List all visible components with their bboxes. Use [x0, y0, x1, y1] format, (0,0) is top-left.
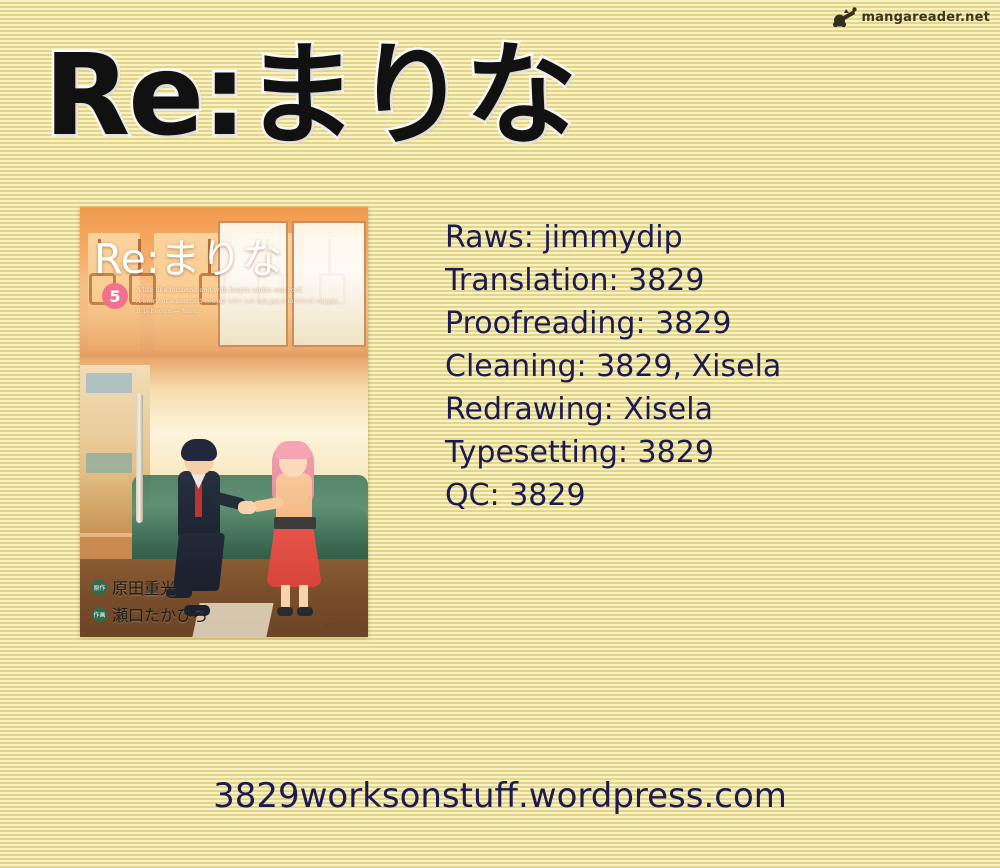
- scanlation-credits-list: Raws: jimmydip Translation: 3829 Proofre…: [445, 216, 965, 517]
- volume-cover-image: Re:まりな 5 A life like husband and wife be…: [80, 207, 368, 637]
- credit-line-qc: QC: 3829: [445, 474, 965, 517]
- cover-held-hands: [238, 501, 256, 514]
- credit-line-redrawing: Redrawing: Xisela: [445, 388, 965, 431]
- cover-character-woman-leg: [299, 585, 308, 609]
- author-role-tag: 原作: [92, 580, 107, 595]
- author-name: 原田重光: [112, 575, 176, 599]
- cover-ad-poster: [86, 453, 132, 473]
- cover-tagline-line-3: It is begun — here.: [136, 306, 350, 317]
- cover-character-woman-skirt: [266, 525, 322, 587]
- credit-line-proofreading: Proofreading: 3829: [445, 302, 965, 345]
- cover-grab-pole: [136, 393, 143, 523]
- credit-line-raws: Raws: jimmydip: [445, 216, 965, 259]
- credit-line-typesetting: Typesetting: 3829: [445, 431, 965, 474]
- cover-tagline-line-2: A story of a married couple who are not …: [136, 296, 350, 307]
- group-website-url: 3829worksonstuff.wordpress.com: [0, 779, 1000, 813]
- series-title-logo: Re:まりな: [44, 40, 575, 152]
- cover-author-row: 作画 瀬口たかひろ: [92, 602, 208, 626]
- site-watermark: mangareader.net: [832, 6, 990, 28]
- cover-ad-poster: [86, 373, 132, 393]
- cover-character-woman-hair-front: [275, 441, 311, 459]
- cover-character-woman-shoe: [277, 607, 293, 616]
- cover-character-man-hair: [181, 439, 217, 461]
- cover-tagline: A life like husband and wife begun under…: [136, 285, 350, 317]
- credit-line-translation: Translation: 3829: [445, 259, 965, 302]
- cover-publisher-mark: JETS COMICS: [324, 624, 360, 629]
- cover-volume-badge: 5: [102, 283, 128, 309]
- cover-author-credits: 原作 原田重光 作画 瀬口たかひろ: [92, 575, 208, 626]
- author-name: 瀬口たかひろ: [112, 602, 208, 626]
- credit-line-cleaning: Cleaning: 3829, Xisela: [445, 345, 965, 388]
- author-role-tag: 作画: [92, 607, 107, 622]
- cover-author-row: 原作 原田重光: [92, 575, 208, 599]
- watermark-label: mangareader.net: [861, 10, 990, 25]
- cover-character-woman-shoe: [297, 607, 313, 616]
- cover-character-woman-belt: [274, 517, 316, 529]
- mangareader-logo-icon: [832, 6, 858, 28]
- credits-page: mangareader.net Re:まりな: [0, 0, 1000, 868]
- cover-character-woman-leg: [281, 585, 290, 609]
- cover-title-text: Re:まりな: [94, 239, 358, 280]
- cover-tagline-line-1: A life like husband and wife begun under…: [136, 285, 350, 296]
